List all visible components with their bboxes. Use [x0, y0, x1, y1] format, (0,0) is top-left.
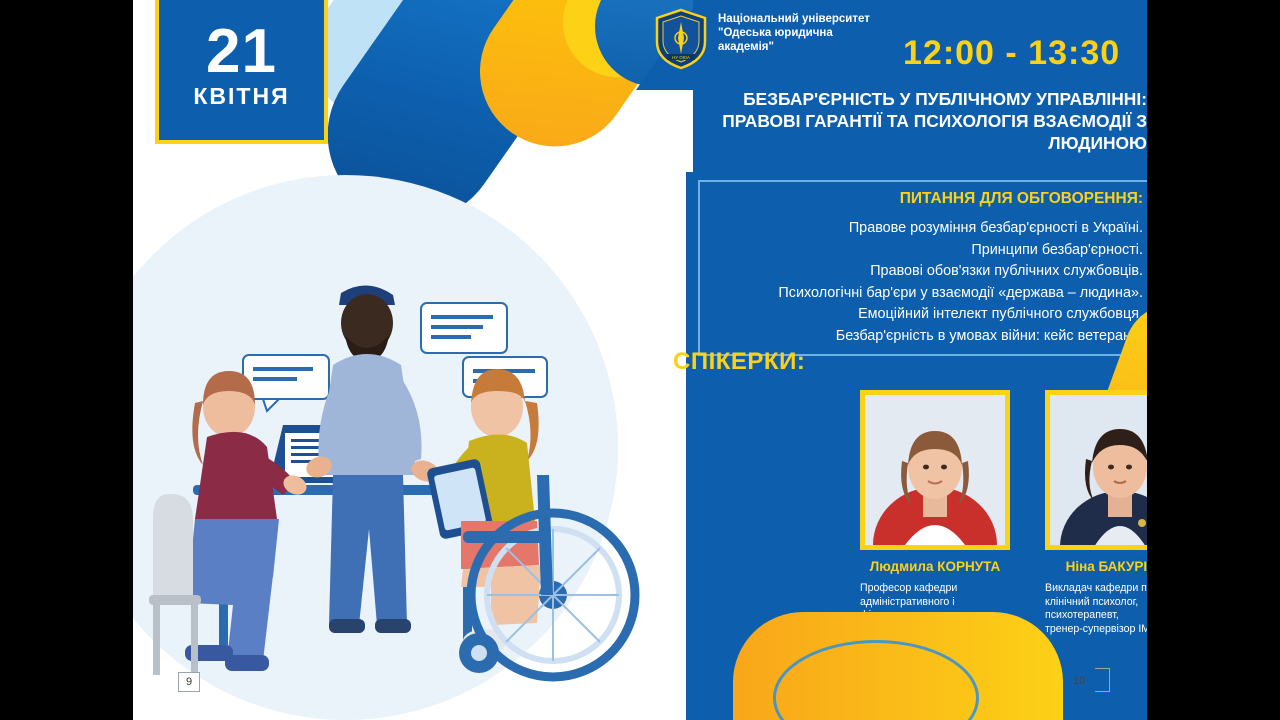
- university-identity: НУ ОЮА Національний університет "Одеська…: [653, 8, 870, 70]
- svg-text:НУ ОЮА: НУ ОЮА: [672, 55, 690, 60]
- speaker-role-2: Викладач кафедри психології, клінічний п…: [1045, 582, 1147, 636]
- page-number-right: 10: [1066, 672, 1092, 690]
- date-month: КВІТНЯ: [193, 83, 289, 110]
- event-time: 12:00 - 13:30: [903, 34, 1120, 73]
- list-item: Психологічні бар'єри у взаємодії «держав…: [663, 283, 1143, 305]
- questions-list: Правове розуміння безбар'єрності в Украї…: [663, 218, 1147, 347]
- presentation-slide: 21 КВІТНЯ НУ ОЮА Національний університе…: [133, 0, 1147, 720]
- list-item: Безбар'єрність в умовах війни: кейс вете…: [663, 326, 1143, 348]
- date-day: 21: [206, 23, 277, 81]
- speaker-photo-2: [1045, 390, 1147, 550]
- screen: 21 КВІТНЯ НУ ОЮА Національний університе…: [0, 0, 1280, 720]
- speaker-name-2: Ніна БАКУРІДЗЕ: [1045, 559, 1147, 574]
- page-number-box: [1095, 668, 1110, 692]
- questions-heading: ПИТАННЯ ДЛЯ ОБГОВОРЕННЯ:: [693, 190, 1147, 208]
- list-item: Правові обов'язки публічних службовців.: [663, 261, 1143, 283]
- people-meeting-illustration: [133, 175, 693, 720]
- list-item: Правове розуміння безбар'єрності в Украї…: [663, 218, 1143, 240]
- page-number-left: 9: [178, 672, 200, 692]
- speaker-name-1: Людмила КОРНУТА: [860, 559, 1010, 574]
- list-item: Емоційний інтелект публічного службовця.: [663, 304, 1143, 326]
- date-badge: 21 КВІТНЯ: [155, 0, 328, 144]
- speaker-card-2: Ніна БАКУРІДЗЕ Викладач кафедри психолог…: [1045, 390, 1147, 636]
- list-item: Принципи безбар'єрності.: [663, 240, 1143, 262]
- speaker-photo-1: [860, 390, 1010, 550]
- speaker-card-1: Людмила КОРНУТА Професор кафедри адмініс…: [860, 390, 1010, 636]
- university-seal-icon: НУ ОЮА: [653, 8, 709, 70]
- university-name: Національний університет "Одеська юридич…: [718, 8, 870, 54]
- page-title: БЕЗБАР'ЄРНІСТЬ У ПУБЛІЧНОМУ УПРАВЛІННІ: …: [681, 88, 1147, 154]
